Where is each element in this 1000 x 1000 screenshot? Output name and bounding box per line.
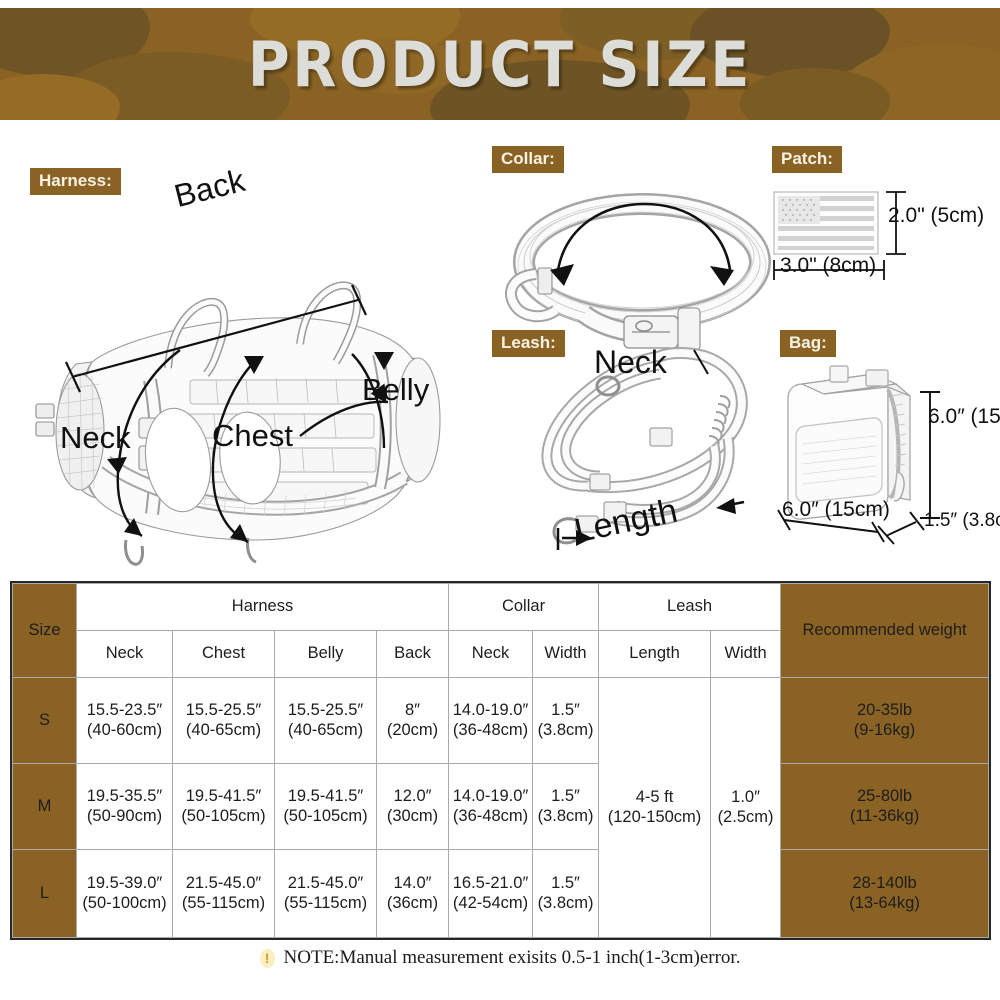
cell-s-harness-back: 8″ (20cm): [377, 678, 449, 764]
table-group-header-row: Size Harness Collar Leash Recommended we…: [13, 584, 989, 631]
size-label-l: L: [13, 850, 77, 938]
harness-neck-label: Neck: [60, 420, 131, 456]
page-title: PRODUCT SIZE: [40, 8, 960, 120]
recommended-line1: Recommended: [802, 621, 914, 639]
bag-height-line2: (15cm): [970, 405, 1000, 428]
value-lb: 20-35lb: [782, 701, 987, 720]
collar-section-tag: Collar:: [492, 146, 564, 173]
cell-l-collar-neck: 16.5-21.0″ (42-54cm): [449, 850, 533, 938]
bag-width-line2: (15cm): [824, 498, 889, 521]
cell-s-collar-neck: 14.0-19.0″ (36-48cm): [449, 678, 533, 764]
cell-l-recommended-weight: 28-140lb (13-64kg): [781, 850, 989, 938]
value-cm: (120-150cm): [600, 808, 709, 827]
value-cm: (2.5cm): [712, 808, 779, 827]
value-cm: (40-65cm): [174, 721, 273, 740]
harness-section-tag: Harness:: [30, 168, 121, 195]
value-cm: (55-115cm): [174, 894, 273, 913]
bag-depth-line1: 1.5″: [924, 510, 957, 531]
size-label-s: S: [13, 678, 77, 764]
value-in: 1.5″: [534, 701, 597, 720]
collar-neck-label: Neck: [594, 344, 667, 381]
value-cm: (36-48cm): [450, 721, 531, 740]
cell-m-harness-belly: 19.5-41.5″ (50-105cm): [275, 764, 377, 850]
value-lb: 28-140lb: [782, 874, 987, 893]
bag-height-dimension: 6.0″ (15cm): [928, 405, 1000, 429]
cell-m-harness-back: 12.0″ (30cm): [377, 764, 449, 850]
warning-icon: !: [260, 949, 275, 968]
cell-s-harness-chest: 15.5-25.5″ (40-65cm): [173, 678, 275, 764]
value-cm: (40-65cm): [276, 721, 375, 740]
size-chart-table: Size Harness Collar Leash Recommended we…: [12, 583, 989, 938]
value-ft: 4-5 ft: [600, 788, 709, 807]
cell-m-collar-width: 1.5″ (3.8cm): [533, 764, 599, 850]
value-cm: (20cm): [378, 721, 447, 740]
subheader-collar-neck: Neck: [449, 631, 533, 678]
cell-leash-width-merged: 1.0″ (2.5cm): [711, 678, 781, 938]
value-kg: (9-16kg): [782, 721, 987, 740]
bag-height-line1: 6.0″: [928, 405, 965, 428]
value-in: 19.5-39.0″: [78, 874, 171, 893]
cell-leash-length-merged: 4-5 ft (120-150cm): [599, 678, 711, 938]
value-in: 15.5-25.5″: [174, 701, 273, 720]
value-in: 1.5″: [534, 787, 597, 806]
patch-section-tag: Patch:: [772, 146, 842, 173]
subheader-harness-neck: Neck: [77, 631, 173, 678]
group-header-leash: Leash: [599, 584, 781, 631]
bag-illustration: [770, 344, 1000, 584]
group-header-harness: Harness: [77, 584, 449, 631]
subheader-harness-belly: Belly: [275, 631, 377, 678]
value-in: 16.5-21.0″: [450, 874, 531, 893]
subheader-collar-width: Width: [533, 631, 599, 678]
cell-l-harness-belly: 21.5-45.0″ (55-115cm): [275, 850, 377, 938]
page-header-banner: PRODUCT SIZE: [0, 8, 1000, 120]
subheader-leash-length: Length: [599, 631, 711, 678]
note-text: NOTE:Manual measurement exisits 0.5-1 in…: [284, 947, 741, 969]
value-in: 14.0-19.0″: [450, 701, 531, 720]
table-row: L 19.5-39.0″ (50-100cm) 21.5-45.0″ (55-1…: [13, 850, 989, 938]
bag-width-line1: 6.0″: [782, 498, 819, 521]
value-kg: (11-36kg): [782, 807, 987, 826]
value-in: 21.5-45.0″: [276, 874, 375, 893]
product-diagrams: Harness:: [0, 122, 1000, 572]
size-chart-container: Size Harness Collar Leash Recommended we…: [12, 583, 988, 938]
value-in: 15.5-25.5″: [276, 701, 375, 720]
size-label-m: M: [13, 764, 77, 850]
group-header-collar: Collar: [449, 584, 599, 631]
cell-m-harness-neck: 19.5-35.5″ (50-90cm): [77, 764, 173, 850]
value-in: 14.0-19.0″: [450, 787, 531, 806]
value-cm: (36-48cm): [450, 807, 531, 826]
value-in: 14.0″: [378, 874, 447, 893]
table-row: M 19.5-35.5″ (50-90cm) 19.5-41.5″ (50-10…: [13, 764, 989, 850]
cell-l-harness-neck: 19.5-39.0″ (50-100cm): [77, 850, 173, 938]
patch-height-dimension: 2.0" (5cm): [888, 204, 984, 228]
patch-width-dimension: 3.0" (8cm): [780, 254, 876, 278]
value-cm: (3.8cm): [534, 807, 597, 826]
value-in: 1.5″: [534, 874, 597, 893]
cell-m-harness-chest: 19.5-41.5″ (50-105cm): [173, 764, 275, 850]
bag-width-dimension: 6.0″ (15cm): [782, 498, 890, 522]
value-cm: (50-90cm): [78, 807, 171, 826]
bag-depth-line2: (3.8cm): [962, 510, 1000, 531]
cell-m-collar-neck: 14.0-19.0″ (36-48cm): [449, 764, 533, 850]
value-cm: (42-54cm): [450, 894, 531, 913]
value-in: 1.0″: [712, 788, 779, 807]
bag-section-tag: Bag:: [780, 330, 836, 357]
value-cm: (3.8cm): [534, 721, 597, 740]
subheader-leash-width: Width: [711, 631, 781, 678]
cell-l-collar-width: 1.5″ (3.8cm): [533, 850, 599, 938]
harness-belly-label: Belly: [362, 372, 429, 408]
value-cm: (50-105cm): [276, 807, 375, 826]
value-in: 12.0″: [378, 787, 447, 806]
value-cm: (50-100cm): [78, 894, 171, 913]
cell-s-harness-belly: 15.5-25.5″ (40-65cm): [275, 678, 377, 764]
value-cm: (36cm): [378, 894, 447, 913]
size-column-header: Size: [13, 584, 77, 678]
harness-chest-label: Chest: [212, 418, 293, 454]
value-in: 19.5-41.5″: [276, 787, 375, 806]
value-in: 19.5-41.5″: [174, 787, 273, 806]
subheader-harness-back: Back: [377, 631, 449, 678]
measurement-note: ! NOTE:Manual measurement exisits 0.5-1 …: [0, 947, 1000, 969]
value-cm: (3.8cm): [534, 894, 597, 913]
bag-depth-dimension: 1.5″ (3.8cm): [924, 510, 1000, 532]
leash-section-tag: Leash:: [492, 330, 565, 357]
cell-s-harness-neck: 15.5-23.5″ (40-60cm): [77, 678, 173, 764]
cell-l-harness-back: 14.0″ (36cm): [377, 850, 449, 938]
subheader-harness-chest: Chest: [173, 631, 275, 678]
cell-m-recommended-weight: 25-80lb (11-36kg): [781, 764, 989, 850]
value-cm: (55-115cm): [276, 894, 375, 913]
value-in: 15.5-23.5″: [78, 701, 171, 720]
value-kg: (13-64kg): [782, 894, 987, 913]
value-cm: (50-105cm): [174, 807, 273, 826]
value-in: 21.5-45.0″: [174, 874, 273, 893]
group-header-recommended-weight: Recommended weight: [781, 584, 989, 678]
cell-s-recommended-weight: 20-35lb (9-16kg): [781, 678, 989, 764]
recommended-line2: weight: [919, 621, 967, 639]
value-in: 19.5-35.5″: [78, 787, 171, 806]
cell-l-harness-chest: 21.5-45.0″ (55-115cm): [173, 850, 275, 938]
value-lb: 25-80lb: [782, 787, 987, 806]
cell-s-collar-width: 1.5″ (3.8cm): [533, 678, 599, 764]
value-cm: (30cm): [378, 807, 447, 826]
value-in: 8″: [378, 701, 447, 720]
table-row: S 15.5-23.5″ (40-60cm) 15.5-25.5″ (40-65…: [13, 678, 989, 764]
value-cm: (40-60cm): [78, 721, 171, 740]
